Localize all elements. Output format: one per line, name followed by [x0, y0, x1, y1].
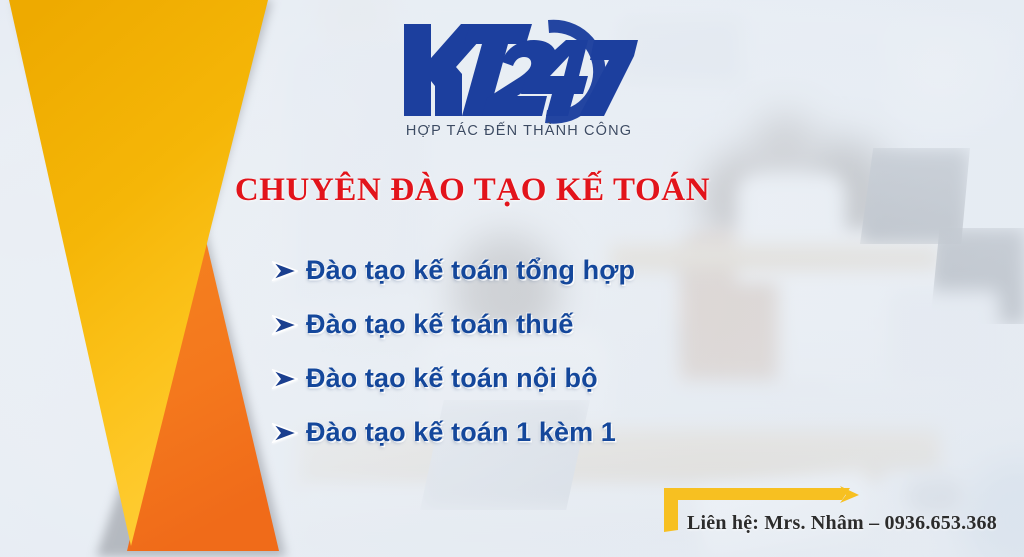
list-item-label: Đào tạo kế toán nội bộ	[306, 363, 598, 394]
service-list: Đào tạo kế toán tổng hợp Đào tạo kế toán…	[272, 243, 635, 459]
brand-tagline: HỢP TÁC ĐẾN THÀNH CÔNG	[396, 123, 642, 139]
arrow-right-bullet-icon	[272, 315, 306, 335]
kt247-logo-icon	[398, 14, 638, 132]
list-item-label: Đào tạo kế toán 1 kèm 1	[306, 417, 616, 448]
arrow-right-bullet-icon	[272, 423, 306, 443]
list-item[interactable]: Đào tạo kế toán thuế	[272, 297, 635, 351]
list-item[interactable]: Đào tạo kế toán nội bộ	[272, 351, 635, 405]
list-item[interactable]: Đào tạo kế toán tổng hợp	[272, 243, 635, 297]
list-item[interactable]: Đào tạo kế toán 1 kèm 1	[272, 405, 635, 459]
arrow-right-bullet-icon	[272, 369, 306, 389]
list-item-label: Đào tạo kế toán thuế	[306, 309, 574, 340]
list-item-label: Đào tạo kế toán tổng hợp	[306, 255, 635, 286]
contact-info: Liên hệ: Mrs. Nhâm – 0936.653.368	[687, 512, 997, 535]
arrow-right-bullet-icon	[272, 261, 306, 281]
page-title: CHUYÊN ĐÀO TẠO KẾ TOÁN	[0, 172, 945, 209]
banner-root: HỢP TÁC ĐẾN THÀNH CÔNG CHUYÊN ĐÀO TẠO KẾ…	[0, 0, 1024, 557]
